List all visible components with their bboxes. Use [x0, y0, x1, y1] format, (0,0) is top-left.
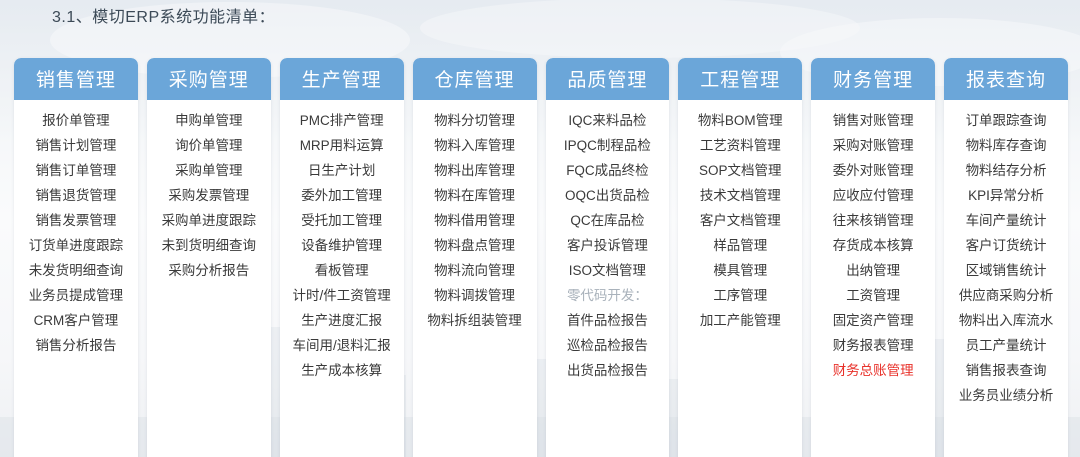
module-item[interactable]: 应收应付管理 [814, 183, 932, 208]
module-item[interactable]: 物料分切管理 [416, 108, 534, 133]
module-column: 财务管理销售对账管理采购对账管理委外对账管理应收应付管理往来核销管理存货成本核算… [811, 58, 935, 457]
module-item[interactable]: 车间用/退料汇报 [283, 333, 401, 358]
module-item[interactable]: SOP文档管理 [681, 158, 799, 183]
module-item[interactable]: 工序管理 [681, 283, 799, 308]
module-item[interactable]: 模具管理 [681, 258, 799, 283]
module-item[interactable]: 销售对账管理 [814, 108, 932, 133]
module-column-header[interactable]: 销售管理 [14, 58, 138, 100]
module-item[interactable]: MRP用料运算 [283, 133, 401, 158]
module-item[interactable]: 巡检品检报告 [549, 333, 667, 358]
module-item[interactable]: 询价单管理 [150, 133, 268, 158]
module-column: 销售管理报价单管理销售计划管理销售订单管理销售退货管理销售发票管理订货单进度跟踪… [14, 58, 138, 457]
module-column-header[interactable]: 品质管理 [546, 58, 670, 100]
module-item-list: 销售对账管理采购对账管理委外对账管理应收应付管理往来核销管理存货成本核算出纳管理… [811, 100, 935, 389]
module-item[interactable]: 加工产能管理 [681, 308, 799, 333]
module-grid: 销售管理报价单管理销售计划管理销售订单管理销售退货管理销售发票管理订货单进度跟踪… [14, 58, 1068, 457]
module-item[interactable]: 区域销售统计 [947, 258, 1065, 283]
module-item[interactable]: 申购单管理 [150, 108, 268, 133]
module-item-list: 订单跟踪查询物料库存查询物料结存分析KPI异常分析车间产量统计客户订货统计区域销… [944, 100, 1068, 414]
module-item[interactable]: 看板管理 [283, 258, 401, 283]
module-item[interactable]: 报价单管理 [17, 108, 135, 133]
module-item[interactable]: FQC成品终检 [549, 158, 667, 183]
module-item[interactable]: 物料盘点管理 [416, 233, 534, 258]
module-item[interactable]: 工艺资料管理 [681, 133, 799, 158]
module-item[interactable]: 销售分析报告 [17, 333, 135, 358]
module-item[interactable]: 客户投诉管理 [549, 233, 667, 258]
module-item[interactable]: 存货成本核算 [814, 233, 932, 258]
module-column-header[interactable]: 仓库管理 [413, 58, 537, 100]
module-column-header[interactable]: 报表查询 [944, 58, 1068, 100]
module-item[interactable]: KPI异常分析 [947, 183, 1065, 208]
module-item[interactable]: 销售发票管理 [17, 208, 135, 233]
module-item[interactable]: 首件品检报告 [549, 308, 667, 333]
module-item[interactable]: 往来核销管理 [814, 208, 932, 233]
module-column: 生产管理PMC排产管理MRP用料运算日生产计划委外加工管理受托加工管理设备维护管… [280, 58, 404, 457]
module-item[interactable]: 采购对账管理 [814, 133, 932, 158]
module-item[interactable]: 未发货明细查询 [17, 258, 135, 283]
module-item-list: IQC来料品检IPQC制程品检FQC成品终检OQC出货品检QC在库品检客户投诉管… [546, 100, 670, 389]
module-column-header[interactable]: 采购管理 [147, 58, 271, 100]
module-item[interactable]: OQC出货品检 [549, 183, 667, 208]
module-column: 采购管理申购单管理询价单管理采购单管理采购发票管理采购单进度跟踪未到货明细查询采… [147, 58, 271, 457]
module-item[interactable]: ISO文档管理 [549, 258, 667, 283]
module-item-list: 物料分切管理物料入库管理物料出库管理物料在库管理物料借用管理物料盘点管理物料流向… [413, 100, 537, 339]
module-item[interactable]: 销售退货管理 [17, 183, 135, 208]
module-column: 品质管理IQC来料品检IPQC制程品检FQC成品终检OQC出货品检QC在库品检客… [546, 58, 670, 457]
module-item[interactable]: 工资管理 [814, 283, 932, 308]
module-item[interactable]: 员工产量统计 [947, 333, 1065, 358]
module-item[interactable]: IQC来料品检 [549, 108, 667, 133]
module-item[interactable]: 固定资产管理 [814, 308, 932, 333]
module-item-list: 物料BOM管理工艺资料管理SOP文档管理技术文档管理客户文档管理样品管理模具管理… [678, 100, 802, 339]
module-item[interactable]: 订货单进度跟踪 [17, 233, 135, 258]
module-item[interactable]: 设备维护管理 [283, 233, 401, 258]
module-item[interactable]: 物料出入库流水 [947, 308, 1065, 333]
module-item[interactable]: 受托加工管理 [283, 208, 401, 233]
module-item[interactable]: 日生产计划 [283, 158, 401, 183]
module-item[interactable]: 物料调拨管理 [416, 283, 534, 308]
module-item-list: PMC排产管理MRP用料运算日生产计划委外加工管理受托加工管理设备维护管理看板管… [280, 100, 404, 389]
module-item[interactable]: 物料流向管理 [416, 258, 534, 283]
module-item[interactable]: 客户文档管理 [681, 208, 799, 233]
module-column: 报表查询订单跟踪查询物料库存查询物料结存分析KPI异常分析车间产量统计客户订货统… [944, 58, 1068, 457]
module-item[interactable]: 采购分析报告 [150, 258, 268, 283]
module-item[interactable]: 采购发票管理 [150, 183, 268, 208]
module-item-list: 报价单管理销售计划管理销售订单管理销售退货管理销售发票管理订货单进度跟踪未发货明… [14, 100, 138, 364]
module-item-subheading: 零代码开发： [549, 283, 667, 308]
module-item[interactable]: 物料入库管理 [416, 133, 534, 158]
module-item-list: 申购单管理询价单管理采购单管理采购发票管理采购单进度跟踪未到货明细查询采购分析报… [147, 100, 271, 289]
module-item[interactable]: 样品管理 [681, 233, 799, 258]
module-item[interactable]: 业务员提成管理 [17, 283, 135, 308]
module-item[interactable]: 采购单管理 [150, 158, 268, 183]
module-item[interactable]: 车间产量统计 [947, 208, 1065, 233]
module-item[interactable]: 生产成本核算 [283, 358, 401, 383]
module-item[interactable]: 物料结存分析 [947, 158, 1065, 183]
module-item[interactable]: PMC排产管理 [283, 108, 401, 133]
module-item[interactable]: 计时/件工资管理 [283, 283, 401, 308]
module-item[interactable]: IPQC制程品检 [549, 133, 667, 158]
module-item[interactable]: 物料库存查询 [947, 133, 1065, 158]
module-item[interactable]: 物料出库管理 [416, 158, 534, 183]
module-item[interactable]: 客户订货统计 [947, 233, 1065, 258]
module-column-header[interactable]: 生产管理 [280, 58, 404, 100]
module-item[interactable]: 业务员业绩分析 [947, 383, 1065, 408]
module-item[interactable]: QC在库品检 [549, 208, 667, 233]
section-title: 3.1、模切ERP系统功能清单： [52, 3, 275, 27]
slide-page: 3.1、模切ERP系统功能清单： 销售管理报价单管理销售计划管理销售订单管理销售… [0, 0, 1080, 457]
module-column: 工程管理物料BOM管理工艺资料管理SOP文档管理技术文档管理客户文档管理样品管理… [678, 58, 802, 457]
module-column-header[interactable]: 财务管理 [811, 58, 935, 100]
module-item[interactable]: 订单跟踪查询 [947, 108, 1065, 133]
module-item[interactable]: 委外加工管理 [283, 183, 401, 208]
module-item[interactable]: 销售报表查询 [947, 358, 1065, 383]
module-item[interactable]: 未到货明细查询 [150, 233, 268, 258]
module-item[interactable]: 出纳管理 [814, 258, 932, 283]
module-item[interactable]: CRM客户管理 [17, 308, 135, 333]
module-item[interactable]: 财务报表管理 [814, 333, 932, 358]
module-item[interactable]: 委外对账管理 [814, 158, 932, 183]
module-item[interactable]: 财务总账管理 [814, 358, 932, 383]
module-item[interactable]: 采购单进度跟踪 [150, 208, 268, 233]
module-item[interactable]: 销售订单管理 [17, 158, 135, 183]
module-item[interactable]: 销售计划管理 [17, 133, 135, 158]
module-column-header[interactable]: 工程管理 [678, 58, 802, 100]
module-column: 仓库管理物料分切管理物料入库管理物料出库管理物料在库管理物料借用管理物料盘点管理… [413, 58, 537, 457]
module-item[interactable]: 物料BOM管理 [681, 108, 799, 133]
module-item[interactable]: 生产进度汇报 [283, 308, 401, 333]
module-item[interactable]: 供应商采购分析 [947, 283, 1065, 308]
module-item[interactable]: 出货品检报告 [549, 358, 667, 383]
module-item[interactable]: 物料拆组装管理 [416, 308, 534, 333]
module-item[interactable]: 技术文档管理 [681, 183, 799, 208]
module-item[interactable]: 物料在库管理 [416, 183, 534, 208]
module-item[interactable]: 物料借用管理 [416, 208, 534, 233]
